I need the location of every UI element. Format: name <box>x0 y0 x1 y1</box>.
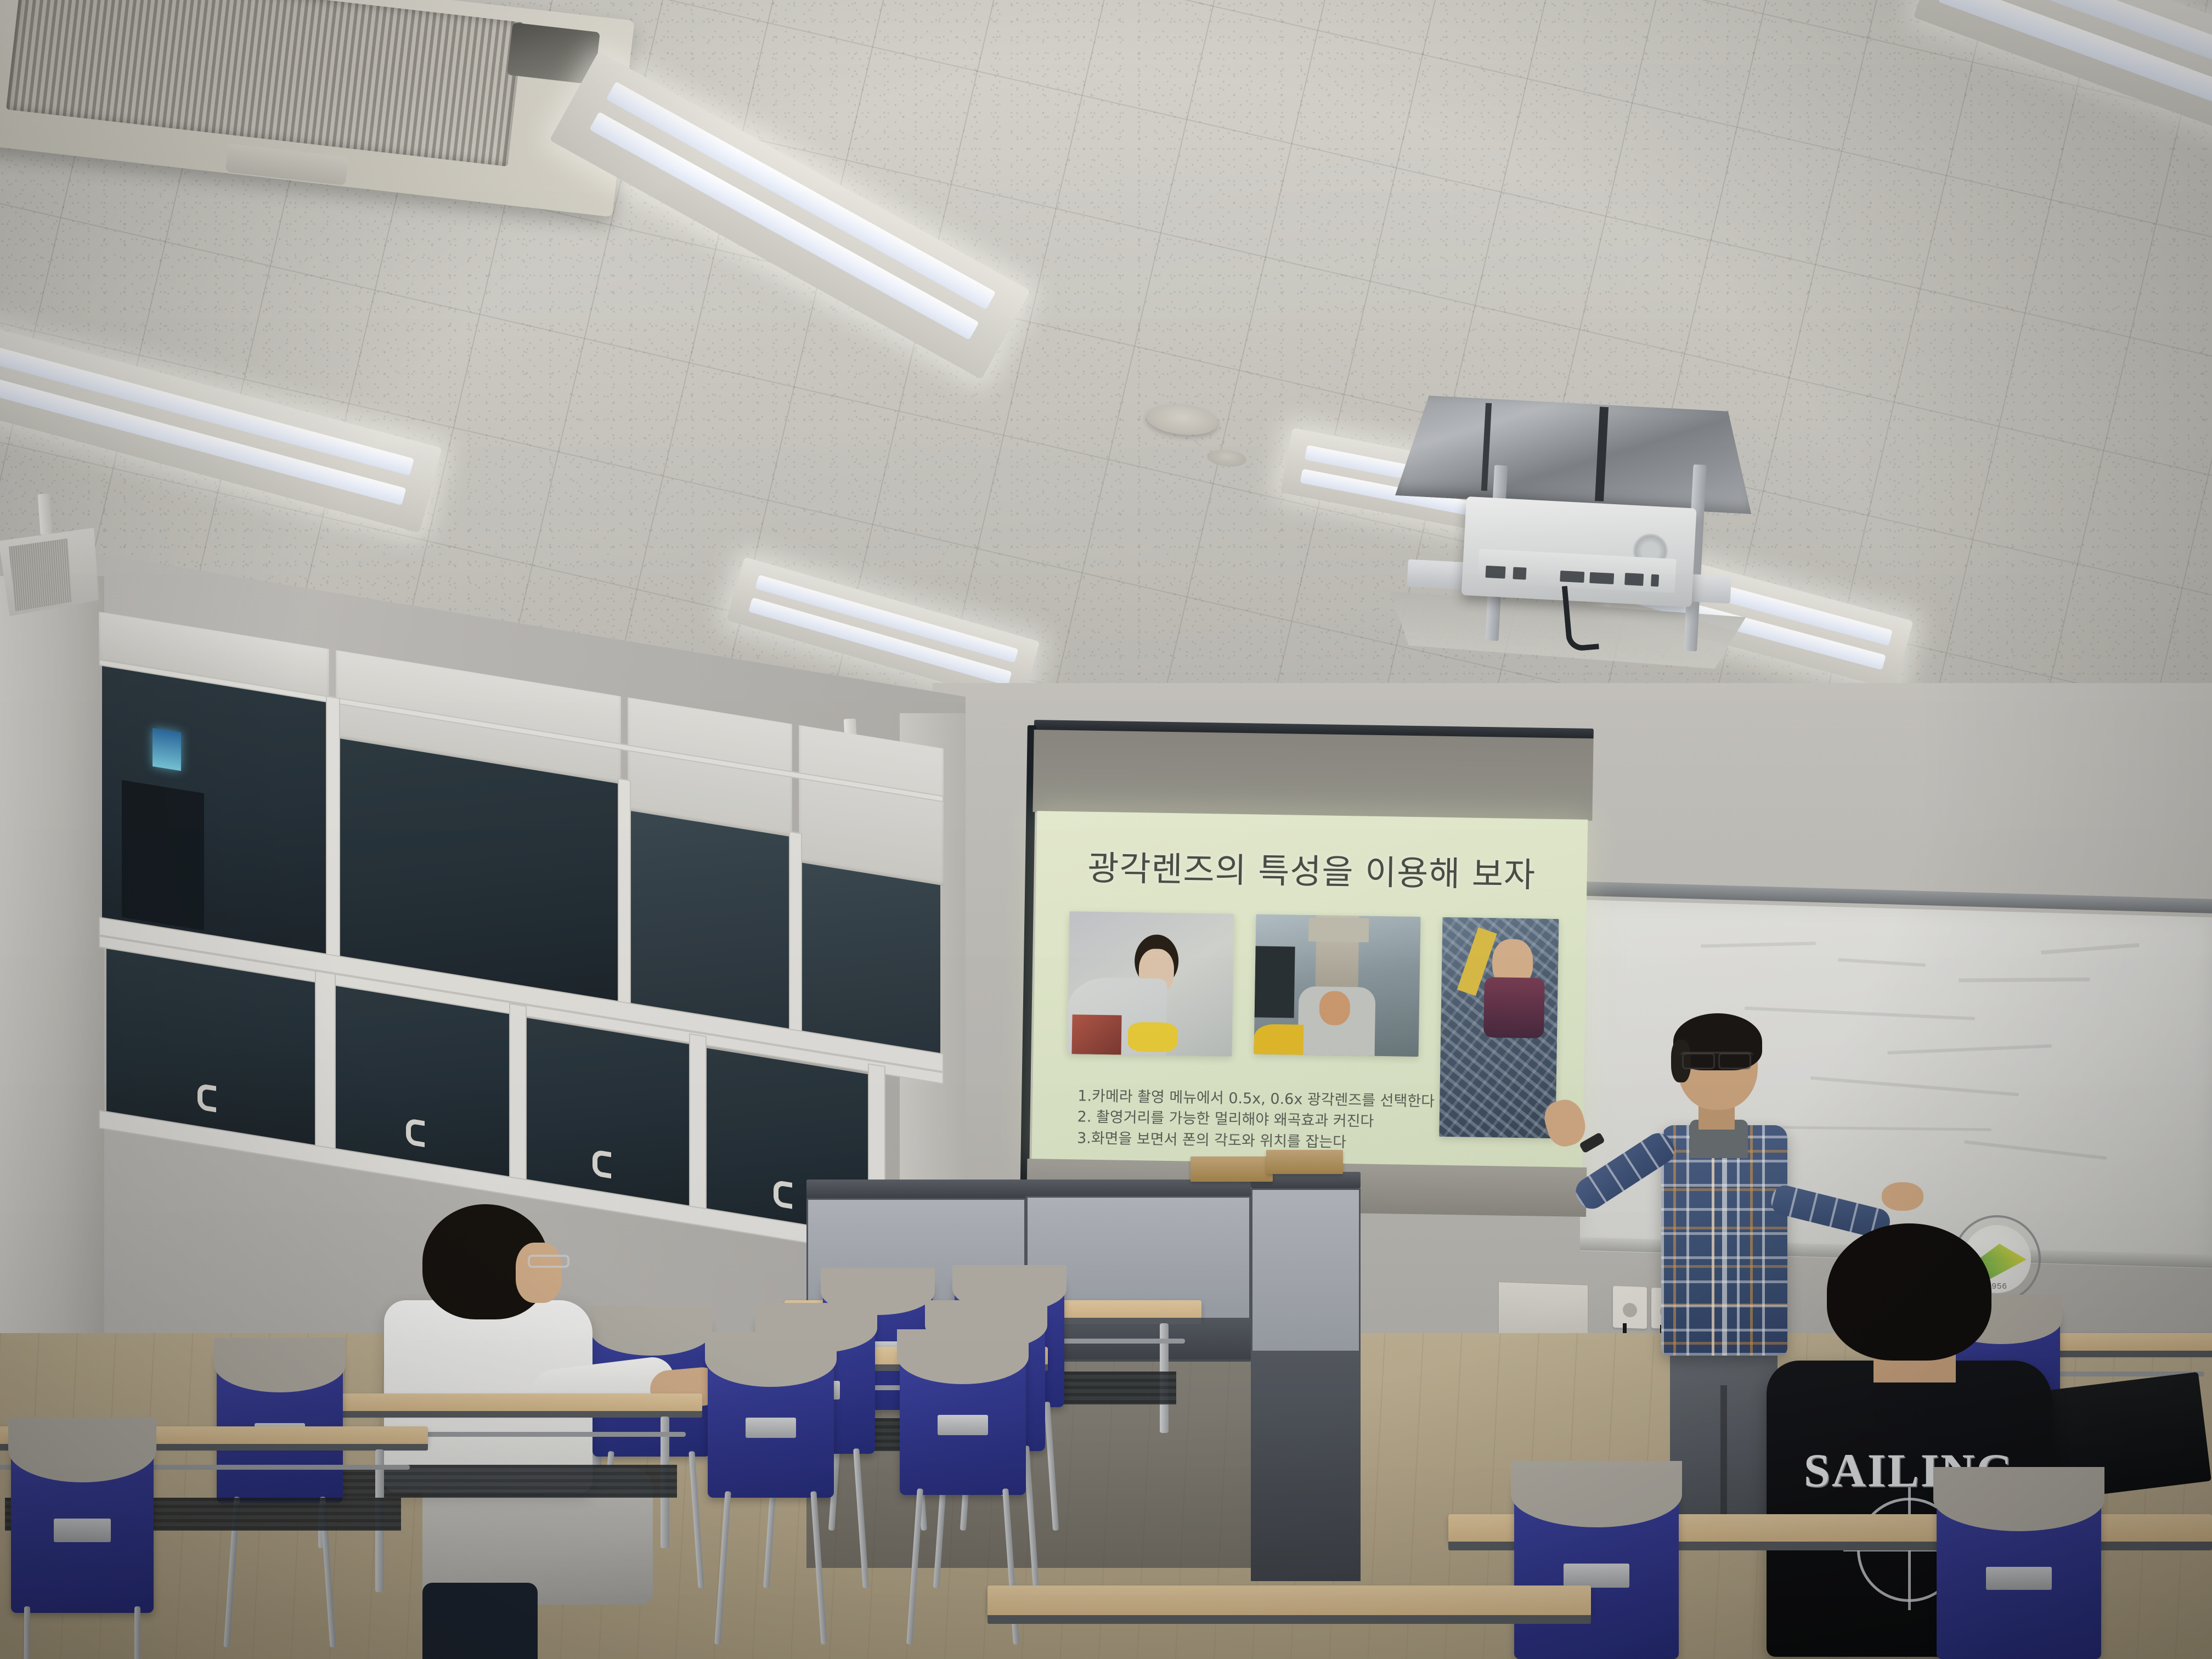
projector-cable <box>1562 584 1599 652</box>
window-glass-lower-2 <box>335 986 510 1179</box>
table-foreground-center[interactable] <box>988 1585 1591 1659</box>
window-glass-upper-3 <box>631 811 789 1032</box>
projector-lift <box>1387 394 1757 670</box>
student-backpack <box>422 1583 538 1659</box>
chair-front-2[interactable] <box>708 1344 834 1498</box>
chair-foreground-right[interactable] <box>1937 1481 2101 1659</box>
chair-foreground-left[interactable] <box>11 1432 154 1613</box>
student-sailing-hair <box>1827 1223 1991 1361</box>
eyeglasses-icon <box>528 1255 569 1268</box>
roller-blind-4[interactable] <box>799 725 944 886</box>
slide-thumbnail-2 <box>1254 914 1421 1057</box>
chair-front-3[interactable] <box>900 1341 1026 1495</box>
slide-thumbnails <box>1067 911 1558 1078</box>
pa-speaker-left <box>0 490 100 629</box>
projected-slide: 광각렌즈의 특성을 이용해 보자 <box>1031 811 1588 1171</box>
window-glass-upper-4 <box>802 863 940 1057</box>
projector <box>1462 496 1697 607</box>
screen-top-margin <box>1032 730 1593 821</box>
slide-title: 광각렌즈의 특성을 이용해 보자 <box>1036 839 1587 898</box>
ac-grille-icon <box>6 0 524 166</box>
student-white-face <box>516 1243 562 1303</box>
slide-thumbnail-1 <box>1067 911 1234 1057</box>
classroom-photo-scene: 1956 광각렌즈의 특성을 이용해 보자 <box>0 0 2212 1659</box>
eyeglasses-icon <box>1680 1052 1753 1066</box>
corridor-poster <box>153 728 181 771</box>
presenter-hand-right <box>1882 1182 1923 1211</box>
corridor-door <box>122 780 204 930</box>
window-glass-lower-3 <box>526 1018 690 1209</box>
slide-bullet-list: 1.카메라 촬영 메뉴에서 0.5x, 0.6x 광각렌즈를 선택한다 2. 촬… <box>1077 1086 1462 1155</box>
cardboard-box-2 <box>1266 1150 1343 1174</box>
projection-screen: 광각렌즈의 특성을 이용해 보자 <box>1026 720 1594 1217</box>
cardboard-box-1 <box>1190 1156 1273 1182</box>
